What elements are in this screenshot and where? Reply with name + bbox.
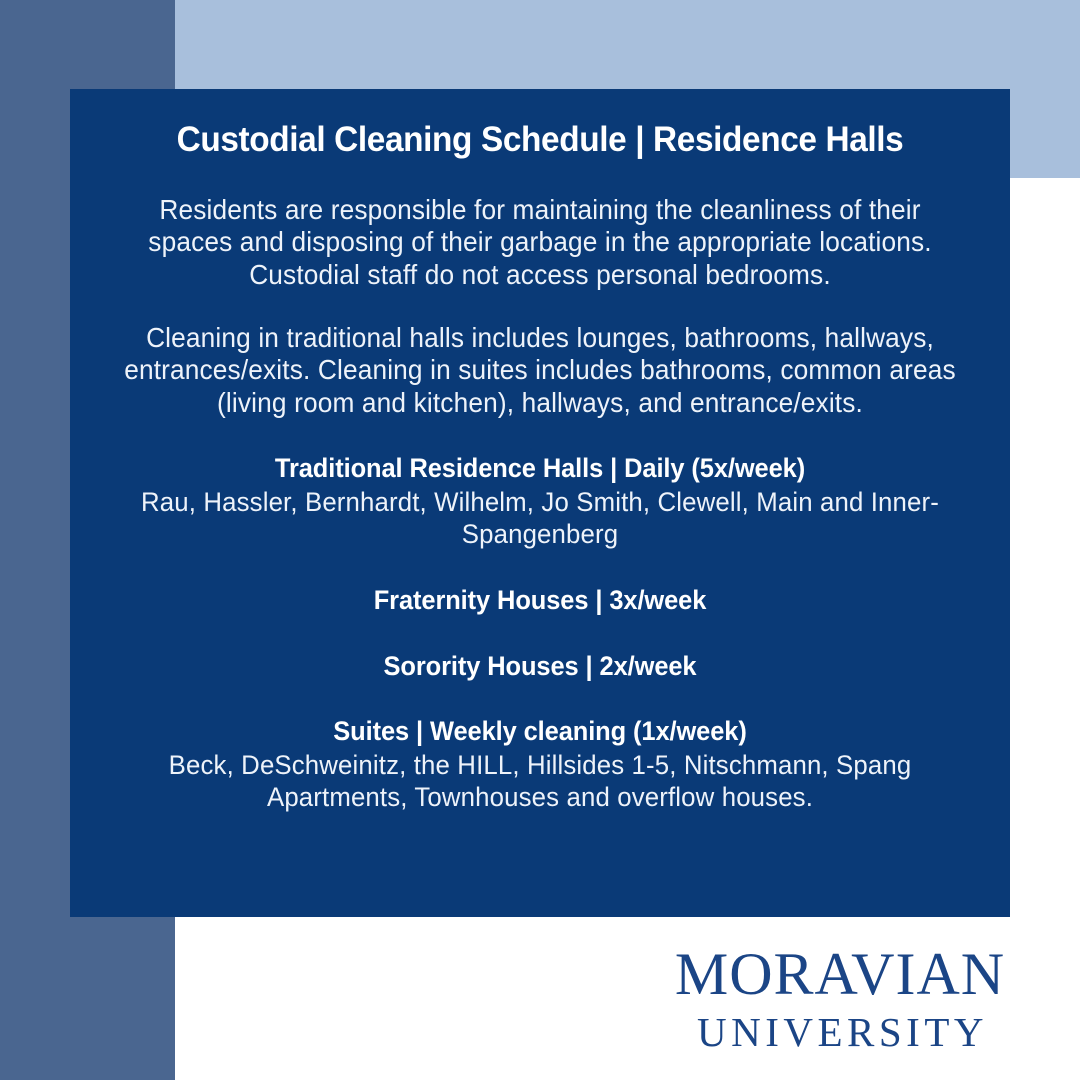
spacer xyxy=(104,617,976,651)
spacer xyxy=(104,551,976,585)
intro-paragraph-2: Custodial staff do not access personal b… xyxy=(124,259,957,292)
section-heading: Fraternity Houses | 3x/week xyxy=(121,585,958,617)
spacer xyxy=(104,682,976,716)
section-sorority-houses: Sorority Houses | 2x/week xyxy=(104,651,976,683)
section-heading: Sorority Houses | 2x/week xyxy=(121,651,958,683)
spacer xyxy=(104,419,976,453)
section-body: Beck, DeSchweinitz, the HILL, Hillsides … xyxy=(124,750,957,814)
intro-paragraph-3: Cleaning in traditional halls includes l… xyxy=(124,322,957,420)
logo-secondary-text: UNIVERSITY xyxy=(660,1012,1020,1053)
moravian-university-logo: MORAVIAN UNIVERSITY xyxy=(660,944,1020,1053)
spacer xyxy=(104,292,976,322)
section-traditional-residence-halls: Traditional Residence Halls | Daily (5x/… xyxy=(104,453,976,551)
section-heading: Traditional Residence Halls | Daily (5x/… xyxy=(121,453,958,485)
section-fraternity-houses: Fraternity Houses | 3x/week xyxy=(104,585,976,617)
logo-primary-text: MORAVIAN xyxy=(660,944,1020,1004)
intro-paragraph-1: Residents are responsible for maintainin… xyxy=(124,194,957,259)
poster-canvas: Custodial Cleaning Schedule | Residence … xyxy=(0,0,1080,1080)
page-title: Custodial Cleaning Schedule | Residence … xyxy=(130,119,950,160)
content-card: Custodial Cleaning Schedule | Residence … xyxy=(70,89,1010,917)
section-body: Rau, Hassler, Bernhardt, Wilhelm, Jo Smi… xyxy=(124,487,957,551)
section-heading: Suites | Weekly cleaning (1x/week) xyxy=(121,716,958,748)
section-suites: Suites | Weekly cleaning (1x/week) Beck,… xyxy=(104,716,976,814)
